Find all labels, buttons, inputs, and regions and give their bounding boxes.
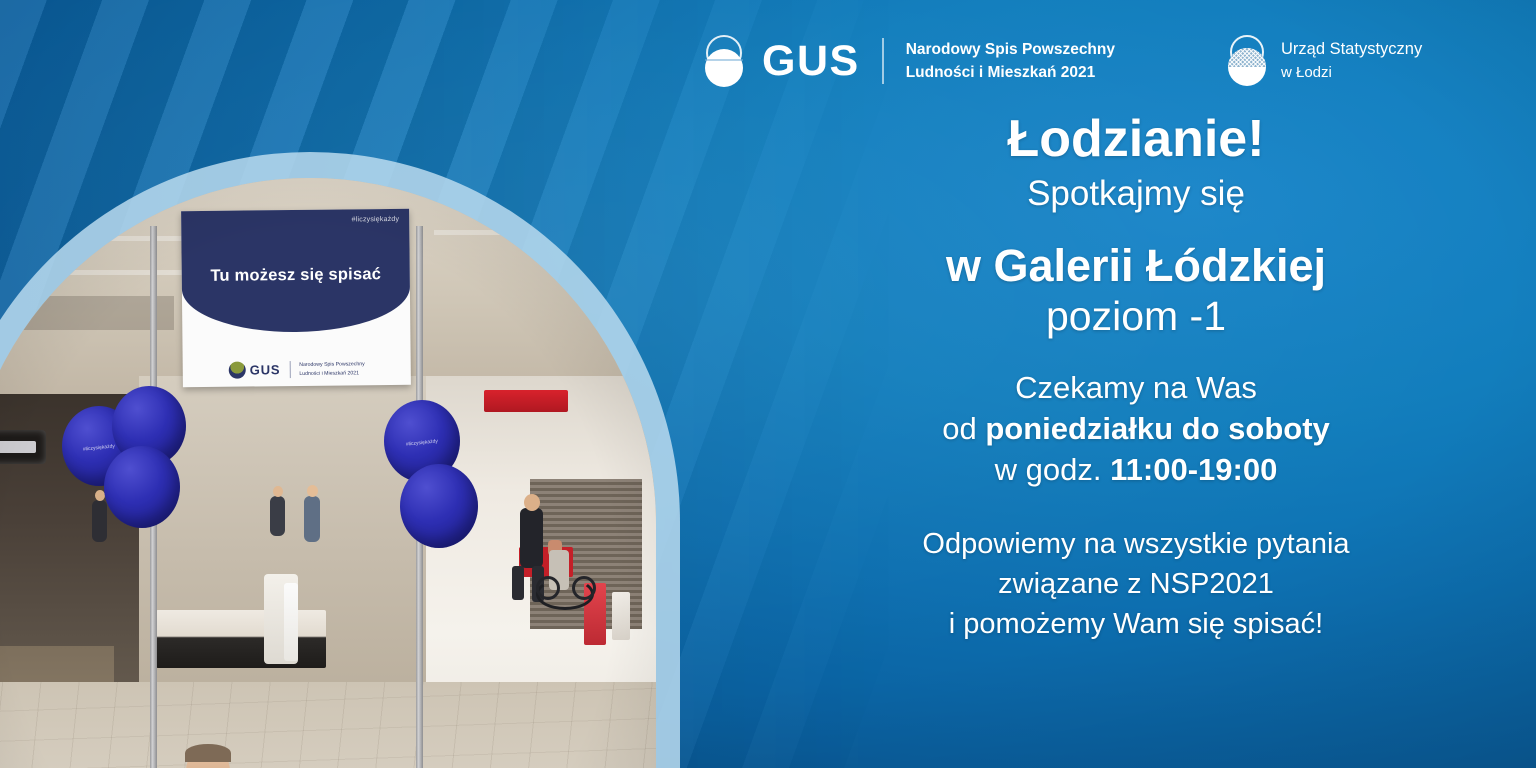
urzad-statystyczny-logo[interactable]: Urząd Statystyczny w Łodzi (1225, 35, 1422, 87)
gus-logo[interactable]: GUS (700, 35, 860, 87)
opening-hours-block: Czekamy na Was od poniedziałku do soboty… (760, 367, 1512, 491)
hours-line-1: Czekamy na Was (760, 367, 1512, 408)
gus-circle-icon (700, 35, 748, 87)
census-subtitle-line1: Narodowy Spis Powszechny (906, 38, 1115, 61)
census-subtitle-line2: Ludności i Mieszkań 2021 (906, 61, 1115, 84)
gus-icon-ball (705, 49, 743, 87)
copy-spacer (760, 490, 1512, 524)
closing-line-1: Odpowiemy na wszystkie pytania (760, 524, 1512, 564)
urzad-statystyczny-circle-icon (1225, 35, 1269, 87)
hours-line-3-prefix: w godz. (995, 452, 1110, 487)
header-divider (882, 38, 884, 84)
photo-edge-shading (0, 178, 656, 768)
closing-line-2: związane z NSP2021 (760, 564, 1512, 604)
closing-block: Odpowiemy na wszystkie pytania związane … (760, 524, 1512, 644)
urzad-statystyczny-text: Urząd Statystyczny w Łodzi (1281, 38, 1422, 84)
hours-line-2: od poniedziałku do soboty (760, 408, 1512, 449)
urzad-statystyczny-line2: w Łodzi (1281, 62, 1422, 84)
event-photo: #liczysiękażdy Tu możesz się spisać GUS … (0, 178, 656, 768)
header-logo-bar: GUS Narodowy Spis Powszechny Ludności i … (700, 22, 1536, 100)
us-icon-ball (1228, 48, 1266, 86)
closing-line-3: i pomożemy Wam się spisać! (760, 604, 1512, 644)
gus-wordmark: GUS (762, 40, 860, 83)
hours-line-2-strong: poniedziałku do soboty (985, 411, 1329, 446)
subline: Spotkajmy się (760, 173, 1512, 215)
venue-level: poziom -1 (760, 292, 1512, 341)
hours-line-3: w godz. 11:00-19:00 (760, 449, 1512, 490)
announcement-copy: Łodzianie! Spotkajmy się w Galerii Łódzk… (760, 112, 1512, 644)
photo-scene: #liczysiękażdy Tu możesz się spisać GUS … (0, 178, 656, 768)
hours-line-3-strong: 11:00-19:00 (1110, 452, 1277, 487)
gus-icon-band (705, 59, 743, 61)
venue-name: w Galerii Łódzkiej (760, 241, 1512, 291)
urzad-statystyczny-line1: Urząd Statystyczny (1281, 38, 1422, 62)
census-subtitle: Narodowy Spis Powszechny Ludności i Mies… (906, 38, 1115, 85)
hours-line-2-prefix: od (942, 411, 985, 446)
headline: Łodzianie! (760, 112, 1512, 167)
